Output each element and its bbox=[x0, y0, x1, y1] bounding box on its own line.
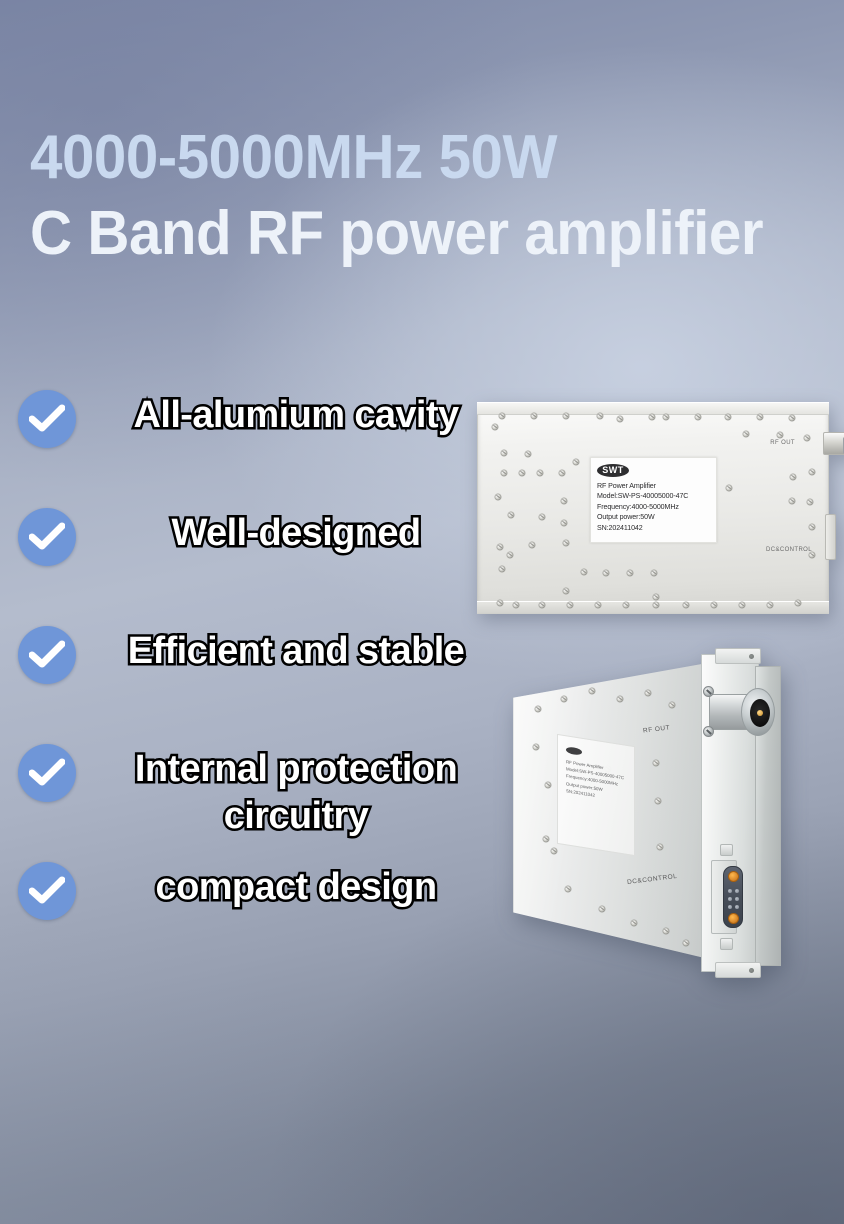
screw bbox=[623, 602, 629, 608]
dc-control-connector bbox=[711, 860, 753, 934]
feature-item-3: Efficient and stable bbox=[18, 624, 498, 742]
mounting-tab-bottom bbox=[715, 962, 761, 978]
screw bbox=[531, 413, 537, 419]
connector-standoff bbox=[720, 844, 733, 856]
screw bbox=[499, 566, 505, 572]
screw bbox=[653, 760, 659, 766]
screw bbox=[711, 602, 717, 608]
screw bbox=[533, 744, 539, 750]
screw bbox=[809, 469, 815, 475]
spec-line-serial: SN:202411042 bbox=[597, 523, 716, 533]
feature-list: All-alumium cavity Well-designed Efficie… bbox=[18, 388, 498, 978]
screw bbox=[539, 602, 545, 608]
dc-control-port-label: DC&CONTROL bbox=[766, 547, 812, 553]
screw bbox=[617, 416, 623, 422]
product-photo-angled-view: RF Power Amplifier Model:SW-PS-40005000-… bbox=[505, 648, 835, 978]
brand-logo: SWT bbox=[597, 464, 629, 477]
connector-center-pin bbox=[757, 710, 763, 716]
feature-label: Internal protection circuitry bbox=[94, 742, 498, 840]
feature-item-4: Internal protection circuitry bbox=[18, 742, 498, 860]
headline-line-2: C Band RF power amplifier bbox=[30, 196, 844, 272]
screw bbox=[539, 514, 545, 520]
screw bbox=[537, 470, 543, 476]
screw bbox=[790, 474, 796, 480]
screw bbox=[543, 836, 549, 842]
screw bbox=[567, 602, 573, 608]
brand-logo bbox=[566, 746, 582, 756]
screw bbox=[767, 602, 773, 608]
rf-out-connector bbox=[701, 684, 775, 740]
connector-standoff bbox=[720, 938, 733, 950]
feature-label: All-alumium cavity bbox=[94, 388, 498, 438]
screw bbox=[663, 414, 669, 420]
connector-pin bbox=[728, 897, 732, 901]
screw bbox=[789, 498, 795, 504]
screw bbox=[507, 552, 513, 558]
screw bbox=[559, 470, 565, 476]
screw bbox=[809, 524, 815, 530]
check-icon bbox=[18, 390, 76, 448]
screw bbox=[757, 414, 763, 420]
connector-face bbox=[741, 688, 775, 736]
check-icon bbox=[18, 626, 76, 684]
feature-label: compact design bbox=[94, 860, 498, 910]
screw bbox=[545, 782, 551, 788]
screw bbox=[645, 690, 651, 696]
feature-item-5: compact design bbox=[18, 860, 498, 978]
screw bbox=[669, 702, 675, 708]
screw bbox=[513, 602, 519, 608]
screw bbox=[739, 602, 745, 608]
screw bbox=[561, 520, 567, 526]
screw bbox=[573, 459, 579, 465]
screw bbox=[657, 844, 663, 850]
screw bbox=[529, 542, 535, 548]
spec-line-title: RF Power Amplifier bbox=[597, 481, 716, 491]
screw bbox=[501, 470, 507, 476]
product-spec-label-angled: RF Power Amplifier Model:SW-PS-40005000-… bbox=[557, 734, 635, 856]
rf-out-connector bbox=[823, 432, 844, 455]
check-icon bbox=[18, 862, 76, 920]
screw bbox=[651, 570, 657, 576]
screw bbox=[807, 499, 813, 505]
screw bbox=[789, 415, 795, 421]
screw bbox=[525, 451, 531, 457]
spec-line-power: Output power:50W bbox=[597, 512, 716, 522]
screw bbox=[565, 886, 571, 892]
screw bbox=[683, 602, 689, 608]
connector-insulator bbox=[723, 866, 743, 928]
screw bbox=[563, 540, 569, 546]
screw bbox=[726, 485, 732, 491]
rf-out-port-label: RF OUT bbox=[770, 440, 795, 446]
connector-screw bbox=[703, 686, 714, 697]
screw bbox=[563, 588, 569, 594]
screw bbox=[551, 848, 557, 854]
screw bbox=[725, 414, 731, 420]
screw bbox=[631, 920, 637, 926]
screw bbox=[695, 414, 701, 420]
feature-label: Well-designed bbox=[94, 506, 498, 556]
screw bbox=[653, 594, 659, 600]
mounting-tab-top bbox=[715, 648, 761, 664]
screw bbox=[589, 688, 595, 694]
screw bbox=[561, 498, 567, 504]
screw bbox=[777, 432, 783, 438]
screw bbox=[519, 470, 525, 476]
product-photo-flat-view: SWT RF Power Amplifier Model:SW-PS-40005… bbox=[477, 402, 829, 614]
spec-line-model: Model:SW-PS-40005000-47C bbox=[597, 491, 716, 501]
screw bbox=[655, 798, 661, 804]
screw bbox=[535, 706, 541, 712]
check-icon bbox=[18, 744, 76, 802]
screw bbox=[627, 570, 633, 576]
feature-label: Efficient and stable bbox=[94, 624, 498, 674]
connector-pin bbox=[735, 897, 739, 901]
screw bbox=[597, 413, 603, 419]
screw bbox=[603, 570, 609, 576]
headline-line-1: 4000-5000MHz 50W bbox=[30, 120, 844, 196]
feature-item-1: All-alumium cavity bbox=[18, 388, 498, 506]
screw bbox=[581, 569, 587, 575]
screw bbox=[804, 435, 810, 441]
screw bbox=[499, 413, 505, 419]
screw bbox=[599, 906, 605, 912]
connector-jackscrew bbox=[728, 871, 739, 882]
connector-pin bbox=[728, 905, 732, 909]
screw bbox=[743, 431, 749, 437]
screw bbox=[595, 602, 601, 608]
screw bbox=[683, 940, 689, 946]
screw bbox=[617, 696, 623, 702]
check-icon bbox=[18, 508, 76, 566]
product-poster: 4000-5000MHz 50W C Band RF power amplifi… bbox=[0, 0, 844, 1224]
screw bbox=[561, 696, 567, 702]
screw bbox=[663, 928, 669, 934]
spec-line-frequency: Frequency:4000-5000MHz bbox=[597, 502, 716, 512]
screw bbox=[563, 413, 569, 419]
connector-bore bbox=[750, 699, 770, 727]
screw bbox=[795, 600, 801, 606]
screw bbox=[649, 414, 655, 420]
connector-pin bbox=[735, 905, 739, 909]
screw bbox=[508, 512, 514, 518]
screw bbox=[501, 450, 507, 456]
product-spec-label: SWT RF Power Amplifier Model:SW-PS-40005… bbox=[590, 457, 717, 543]
connector-jackscrew bbox=[728, 913, 739, 924]
housing-edge-rail-top bbox=[477, 402, 829, 415]
dc-control-connector bbox=[825, 514, 836, 560]
connector-pin bbox=[728, 889, 732, 893]
headline-block: 4000-5000MHz 50W C Band RF power amplifi… bbox=[30, 120, 844, 272]
feature-item-2: Well-designed bbox=[18, 506, 498, 624]
connector-screw bbox=[703, 726, 714, 737]
connector-pin bbox=[735, 889, 739, 893]
screw bbox=[653, 602, 659, 608]
